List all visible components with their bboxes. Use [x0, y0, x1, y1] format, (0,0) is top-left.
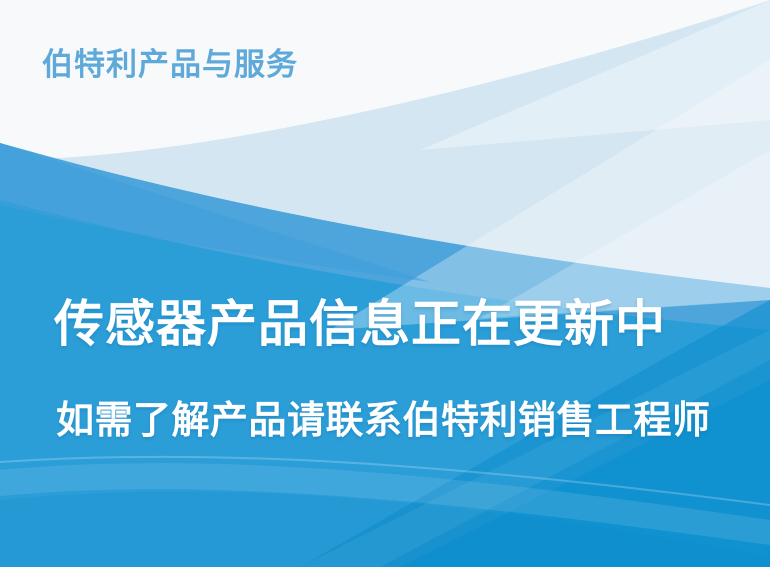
brand-title: 伯特利产品与服务	[42, 46, 298, 83]
banner-text-layer: 伯特利产品与服务 传感器产品信息正在更新中 如需了解产品请联系伯特利销售工程师	[0, 0, 770, 567]
product-service-banner: 伯特利产品与服务 传感器产品信息正在更新中 如需了解产品请联系伯特利销售工程师	[0, 0, 770, 567]
headline-message: 传感器产品信息正在更新中	[54, 297, 666, 352]
subline-message: 如需了解产品请联系伯特利销售工程师	[56, 401, 711, 443]
